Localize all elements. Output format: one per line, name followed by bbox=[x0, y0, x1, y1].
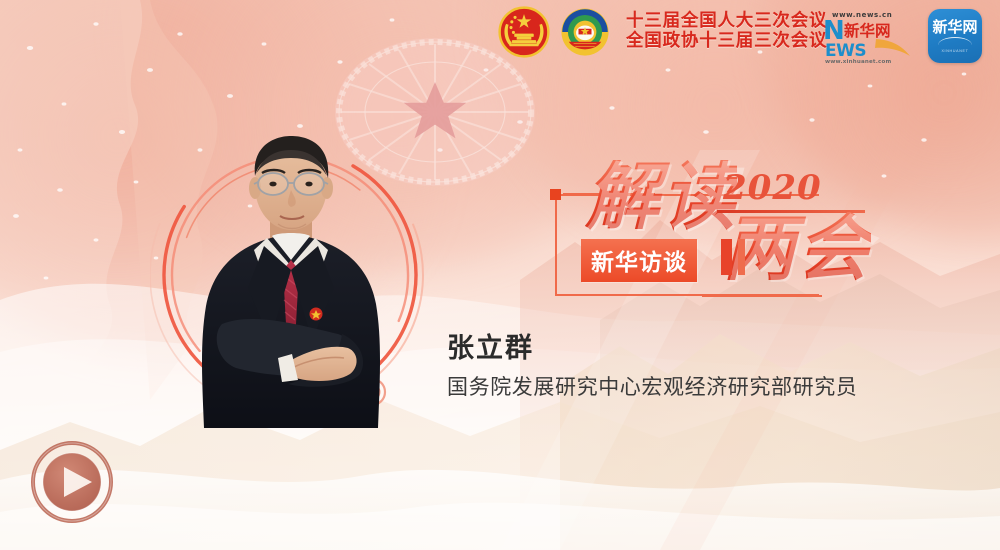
conference-title-text: 十三届全国人大三次会议 全国政协十三届三次会议 bbox=[626, 12, 827, 51]
title-bracket-square bbox=[550, 189, 561, 200]
guest-portrait bbox=[150, 120, 430, 430]
national-emblem-icon bbox=[498, 6, 550, 58]
svg-text:www.xinhuanet.com: www.xinhuanet.com bbox=[825, 59, 891, 64]
guest-name: 张立群 bbox=[447, 332, 857, 366]
poster-stage: 十三届全国人大三次会议 全国政协十三届三次会议 www.news.cn N EW… bbox=[0, 0, 1000, 550]
app-icon-label: 新华网 bbox=[932, 20, 977, 35]
title-bar-1 bbox=[721, 239, 732, 275]
svg-text:新华网: 新华网 bbox=[844, 21, 891, 40]
title-main: 解读 bbox=[585, 160, 737, 234]
title-year: 2020 bbox=[723, 168, 822, 208]
conference-line-1: 十三届全国人大三次会议 bbox=[626, 12, 827, 32]
title-bar-2 bbox=[738, 239, 745, 275]
program-title-lockup: 解读 2020 两会 新华访谈 bbox=[555, 160, 875, 300]
guest-info-block: 张立群 国务院发展研究中心宏观经济研究部研究员 bbox=[447, 332, 857, 400]
play-button[interactable] bbox=[30, 440, 114, 524]
xinhuanet-app-icon[interactable]: 新华网 XINHUANET bbox=[928, 9, 982, 63]
cppcc-emblem-icon bbox=[559, 6, 611, 58]
svg-text:EWS: EWS bbox=[825, 41, 866, 61]
conference-line-2: 全国政协十三届三次会议 bbox=[626, 32, 827, 52]
app-icon-sublabel: XINHUANET bbox=[941, 49, 968, 53]
app-icon-arc bbox=[938, 37, 972, 45]
guest-photo bbox=[192, 128, 390, 428]
program-badge: 新华访谈 bbox=[581, 239, 697, 282]
title-secondary: 两会 bbox=[723, 212, 871, 284]
xinhuanet-wordmark-logo[interactable]: www.news.cn N EWS 新华网 www.xinhuanet.com bbox=[822, 8, 918, 64]
guest-title: 国务院发展研究中心宏观经济研究部研究员 bbox=[447, 374, 857, 400]
conference-header: 十三届全国人大三次会议 全国政协十三届三次会议 bbox=[498, 6, 827, 58]
